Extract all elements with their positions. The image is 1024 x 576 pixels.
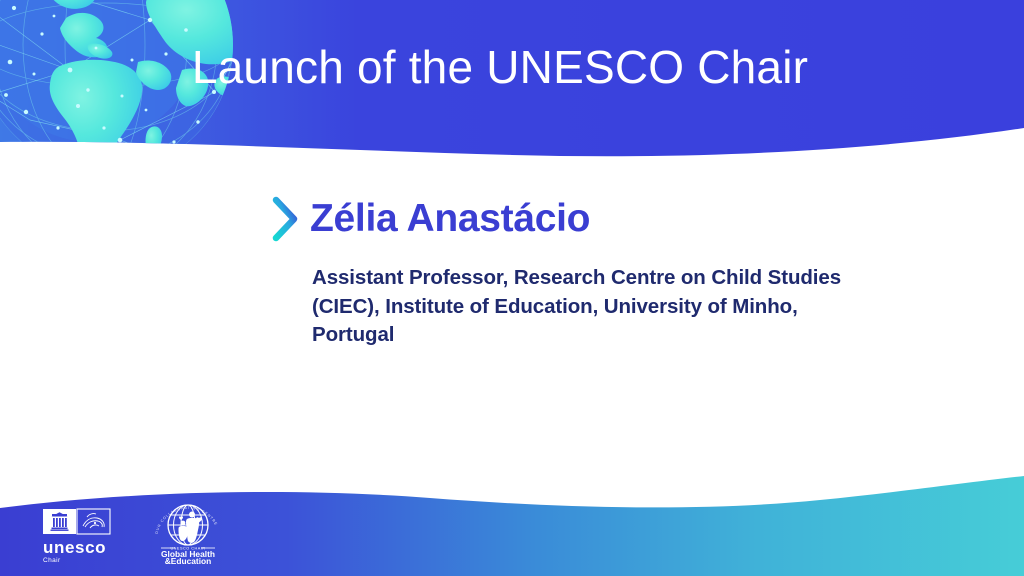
unesco-temple-icon (51, 512, 69, 531)
globe-figures-icon (168, 505, 208, 545)
unesco-chair-label: Chair (43, 557, 61, 564)
unesco-emblem-icon (83, 514, 104, 528)
speaker-affiliation: Assistant Professor, Research Centre on … (312, 264, 882, 350)
slide-canvas: Launch of the UNESCO Chair Zélia Anastác… (0, 0, 1024, 576)
header-band: Launch of the UNESCO Chair (0, 0, 1024, 170)
global-health-education-logo: OUR COLLABORATING CENTRE (146, 500, 230, 564)
unesco-wordmark: unesco (43, 538, 106, 557)
speaker-block: Zélia Anastácio Assistant Professor, Res… (272, 196, 932, 350)
footer-logo-row: unesco Chair OUR COLLABORATING CENTRE (42, 500, 230, 564)
page-title: Launch of the UNESCO Chair (0, 38, 1024, 96)
chevron-right-icon (272, 196, 298, 242)
ghe-line-2: &Education (165, 556, 212, 564)
speaker-name: Zélia Anastácio (310, 196, 590, 242)
unesco-logo: unesco Chair (42, 508, 120, 564)
footer-band: unesco Chair OUR COLLABORATING CENTRE (0, 466, 1024, 576)
speaker-name-row: Zélia Anastácio (272, 196, 932, 242)
